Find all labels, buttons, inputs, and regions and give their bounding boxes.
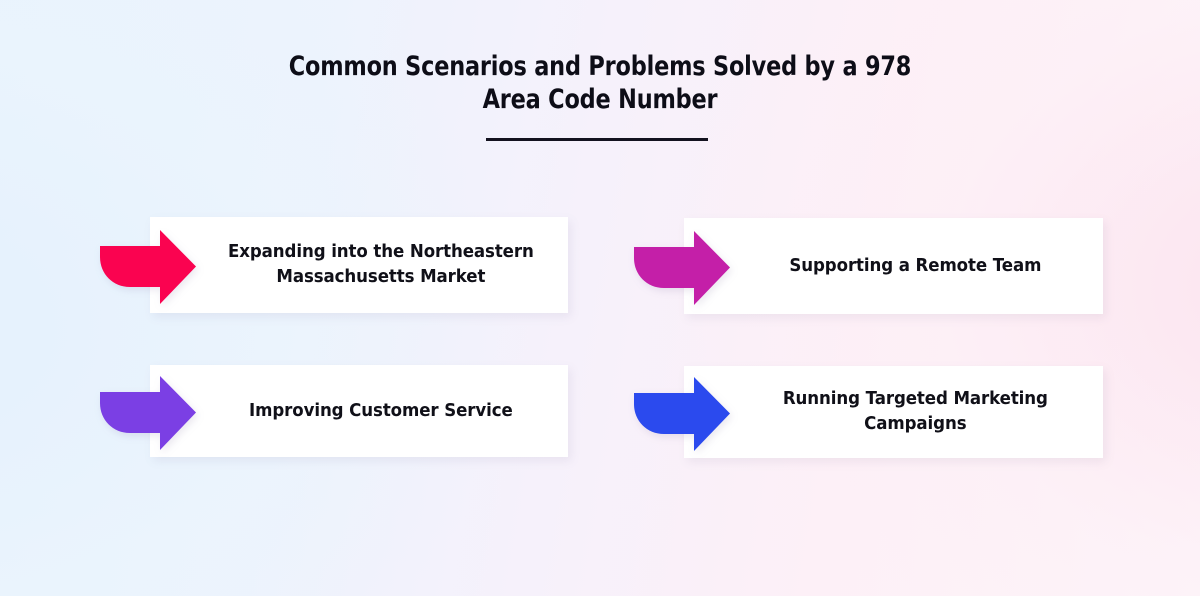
scenario-card-label: Running Targeted Marketing Campaigns bbox=[694, 387, 1092, 437]
right-arrow-icon bbox=[634, 377, 730, 451]
page-title: Common Scenarios and Problems Solved by … bbox=[262, 50, 939, 116]
right-arrow-icon bbox=[634, 231, 730, 305]
scenario-card-label: Expanding into the Northeastern Massachu… bbox=[160, 240, 557, 290]
scenario-card[interactable]: Running Targeted Marketing Campaigns bbox=[684, 366, 1103, 458]
scenario-card-label: Supporting a Remote Team bbox=[694, 254, 1092, 279]
infographic-canvas: Common Scenarios and Problems Solved by … bbox=[0, 0, 1200, 596]
scenario-card[interactable]: Supporting a Remote Team bbox=[684, 218, 1103, 314]
title-block: Common Scenarios and Problems Solved by … bbox=[0, 50, 1200, 116]
title-underline-divider bbox=[486, 138, 708, 141]
scenario-card[interactable]: Improving Customer Service bbox=[150, 365, 568, 457]
scenario-card[interactable]: Expanding into the Northeastern Massachu… bbox=[150, 217, 568, 313]
scenario-card-label: Improving Customer Service bbox=[160, 399, 557, 424]
right-arrow-icon bbox=[100, 376, 196, 450]
right-arrow-icon bbox=[100, 230, 196, 304]
